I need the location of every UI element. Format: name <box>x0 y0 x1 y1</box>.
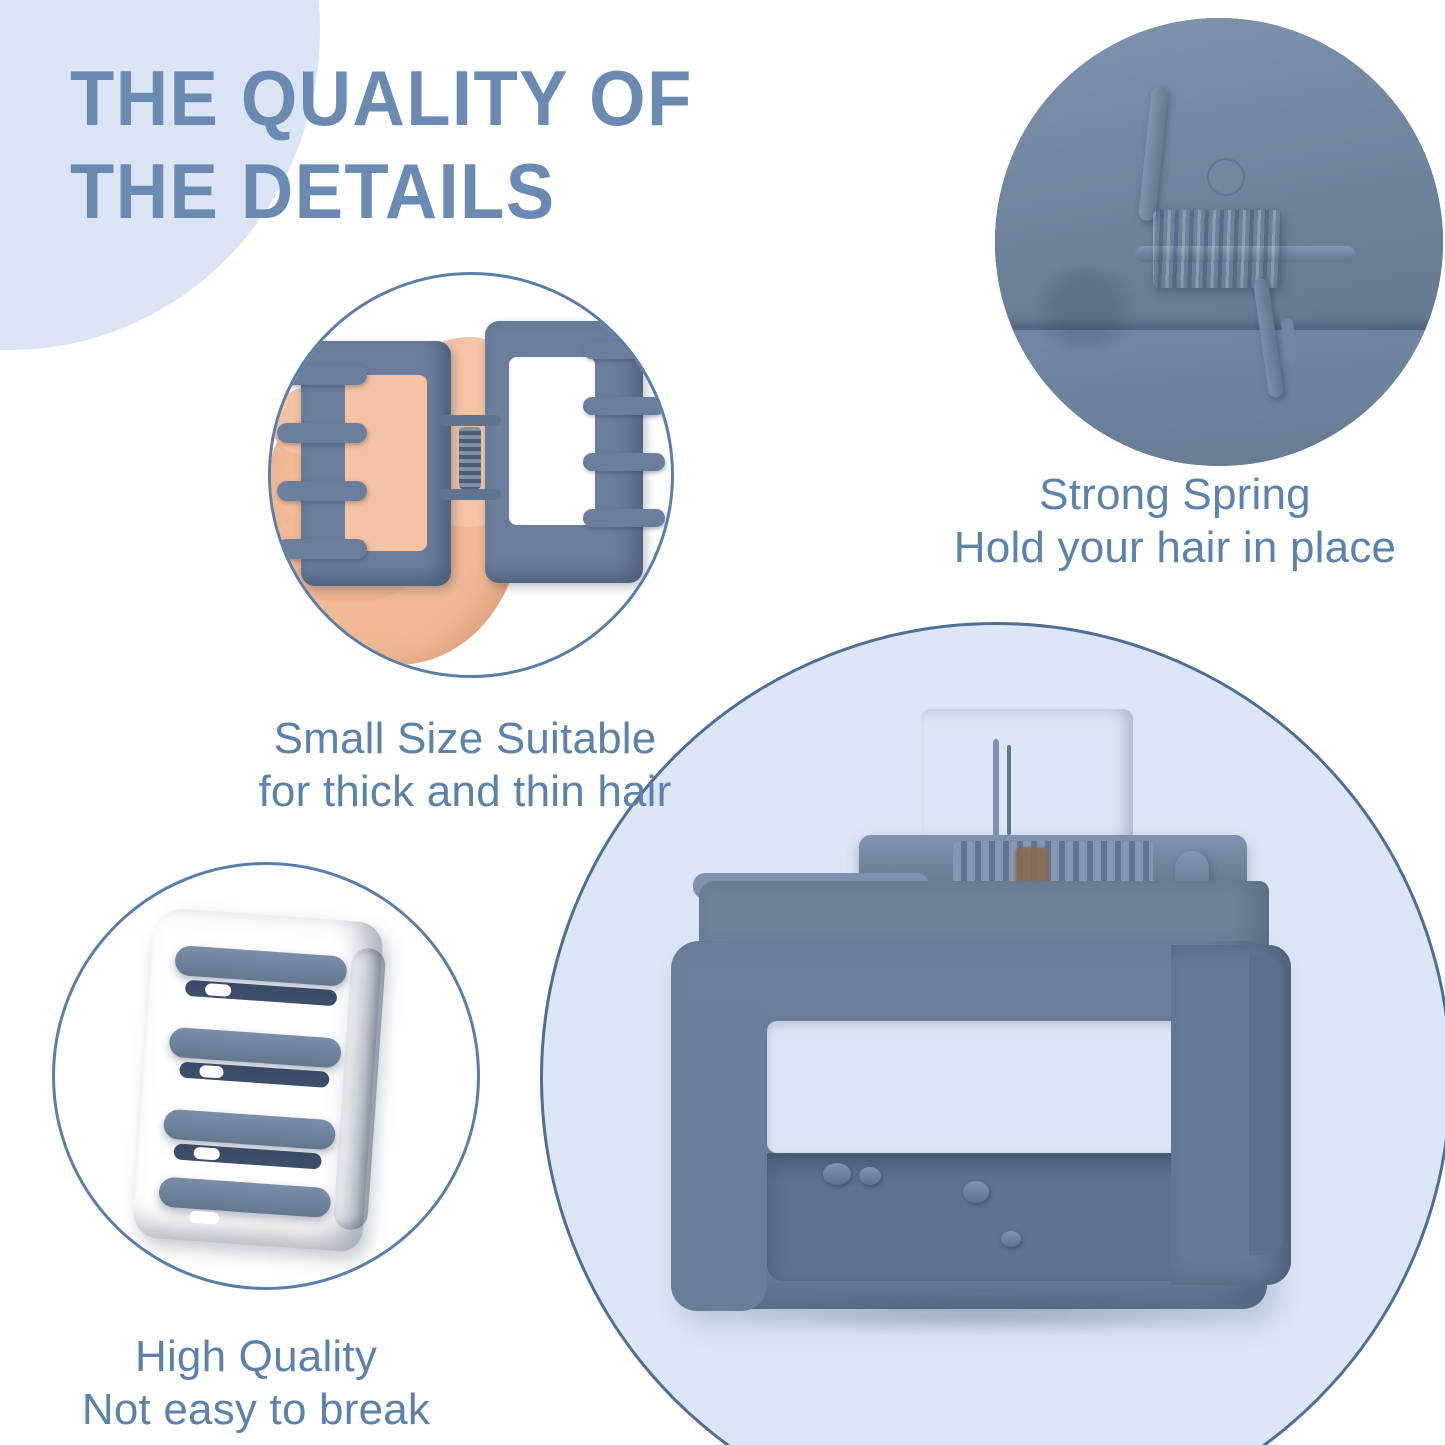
comb-tooth <box>583 509 665 527</box>
clip-jaw-right <box>485 321 643 583</box>
infographic-canvas: THE QUALITY OF THE DETAILS <box>0 0 1445 1445</box>
comb-tooth <box>158 1176 332 1218</box>
tooth-gap <box>205 983 232 997</box>
flap-seam <box>1007 745 1011 835</box>
caption-small-size: Small Size Suitable for thick and thin h… <box>205 712 725 818</box>
tooth-gap <box>199 1065 224 1079</box>
caption-strong-spring: Strong Spring Hold your hair in place <box>905 468 1445 574</box>
comb-tooth <box>583 397 665 415</box>
comb-tooth <box>277 365 367 385</box>
spring-coil <box>459 427 481 489</box>
clip-hinge <box>439 415 501 501</box>
clip-lower-band <box>995 330 1443 466</box>
mold-dimple <box>1207 158 1245 196</box>
inner-nub <box>823 1163 851 1185</box>
feature-image-strong-spring <box>995 18 1443 466</box>
comb-tooth <box>277 423 367 443</box>
feature-image-high-quality <box>52 862 480 1290</box>
hinge-bar <box>439 489 501 500</box>
flap-seam <box>993 739 999 839</box>
clip-jaw-left <box>301 341 451 586</box>
clip-side-view <box>132 907 384 1252</box>
feature-image-small-size <box>268 272 674 678</box>
comb-tooth <box>277 539 367 559</box>
comb-tooth <box>583 341 665 359</box>
contact-shadow <box>723 1295 1243 1335</box>
tooth-gap <box>189 1211 220 1225</box>
inner-nub <box>1001 1231 1021 1247</box>
inner-nub <box>963 1181 989 1203</box>
spring-coil-highlight <box>1153 210 1281 288</box>
clip-window <box>767 1021 1187 1153</box>
hinge-bar <box>439 415 501 426</box>
comb-tooth <box>277 481 367 501</box>
jaw-window <box>509 357 595 525</box>
hero-product <box>663 705 1323 1355</box>
jaw-window <box>345 375 427 551</box>
clip-front-post <box>671 1005 767 1311</box>
tooth-gap <box>193 1147 220 1161</box>
caption-high-quality: High Quality Not easy to break <box>0 1330 512 1436</box>
clip-rear-edge <box>1249 955 1283 1255</box>
comb-tooth <box>583 453 665 471</box>
spring-core <box>1015 847 1049 885</box>
page-title: THE QUALITY OF THE DETAILS <box>70 52 777 238</box>
surface-grain <box>1025 268 1145 348</box>
inner-nub <box>859 1167 881 1185</box>
clip-spine <box>333 947 387 1231</box>
